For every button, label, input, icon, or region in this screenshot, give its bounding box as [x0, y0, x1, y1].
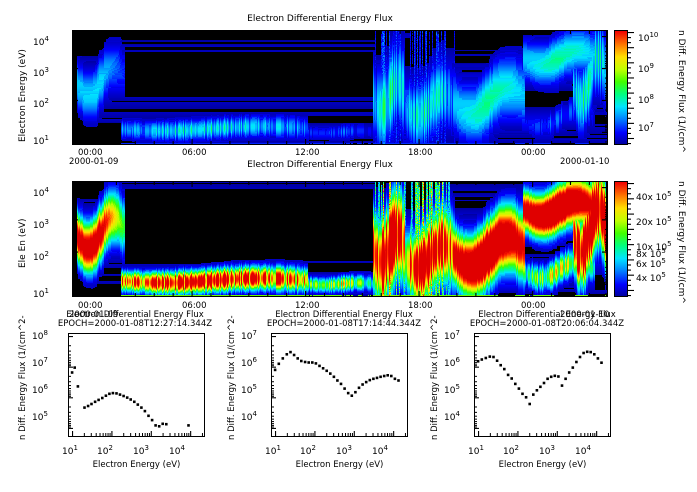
axis-ticks-overlay: [0, 0, 697, 492]
